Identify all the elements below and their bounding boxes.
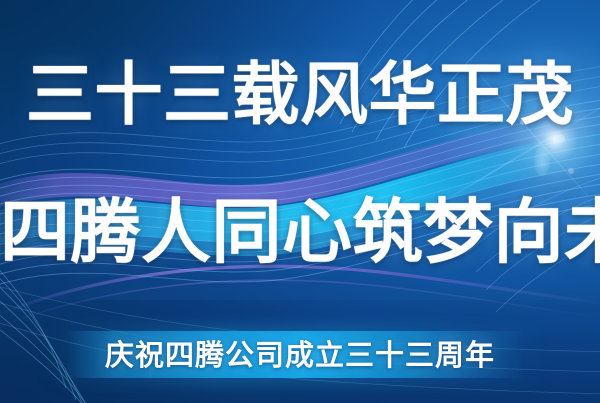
vignette-overlay <box>0 0 600 403</box>
anniversary-banner: 三十三载风华正茂 四腾人同心筑梦向未来 庆祝四腾公司成立三十三周年 <box>0 0 600 403</box>
